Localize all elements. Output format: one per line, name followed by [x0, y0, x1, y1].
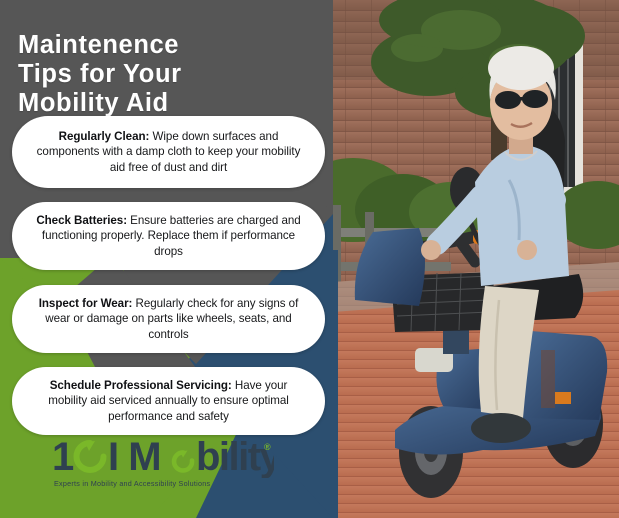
logo-digit-one: 1	[52, 435, 74, 478]
photo-left-blue-edge	[333, 250, 338, 518]
tip-text: Regularly Clean: Wipe down surfaces and …	[32, 129, 305, 175]
logo-101-mobility[interactable]: 1 I M bility ®	[52, 436, 277, 498]
tip-text: Inspect for Wear: Regularly check for an…	[32, 296, 305, 342]
recycle-arrow-icon	[77, 441, 104, 470]
tip-card-inspect-for-wear[interactable]: Inspect for Wear: Regularly check for an…	[12, 285, 325, 353]
tip-card-regularly-clean[interactable]: Regularly Clean: Wipe down surfaces and …	[12, 116, 325, 188]
left-hand	[421, 240, 441, 260]
logo-tagline: Experts in Mobility and Accessibility So…	[52, 479, 277, 488]
hair-top	[488, 46, 554, 90]
tip-heading: Schedule Professional Servicing:	[50, 379, 232, 392]
tip-text: Schedule Professional Servicing: Have yo…	[32, 378, 305, 424]
right-hand	[517, 240, 537, 260]
photo-illustration	[333, 0, 619, 518]
tip-heading: Inspect for Wear:	[39, 297, 133, 310]
logo-letters-bility: bility	[196, 435, 274, 478]
logo-wordmark: 1 I M bility ®	[52, 436, 277, 478]
tip-heading: Regularly Clean:	[59, 130, 150, 143]
tip-card-schedule-professional-servicing[interactable]: Schedule Professional Servicing: Have yo…	[12, 367, 325, 435]
tip-heading: Check Batteries:	[36, 214, 127, 227]
photo-mobility-scooter-user: Elderly woman with white hair and sungla…	[333, 0, 619, 518]
infographic-root: Maintenence Tips for Your Mobility Aid R…	[0, 0, 619, 518]
rear-reflector	[555, 392, 571, 404]
shoe	[471, 413, 531, 443]
logo-letters-im: I M	[108, 435, 161, 478]
recycle-arrow-small-icon	[174, 451, 192, 471]
tip-text: Check Batteries: Ensure batteries are ch…	[32, 213, 305, 259]
logo-graphic: 1 I M bility ®	[52, 434, 274, 478]
tip-card-check-batteries[interactable]: Check Batteries: Ensure batteries are ch…	[12, 202, 325, 270]
scooter-rear-body	[519, 330, 607, 420]
left-content-panel: Maintenence Tips for Your Mobility Aid R…	[0, 0, 333, 518]
